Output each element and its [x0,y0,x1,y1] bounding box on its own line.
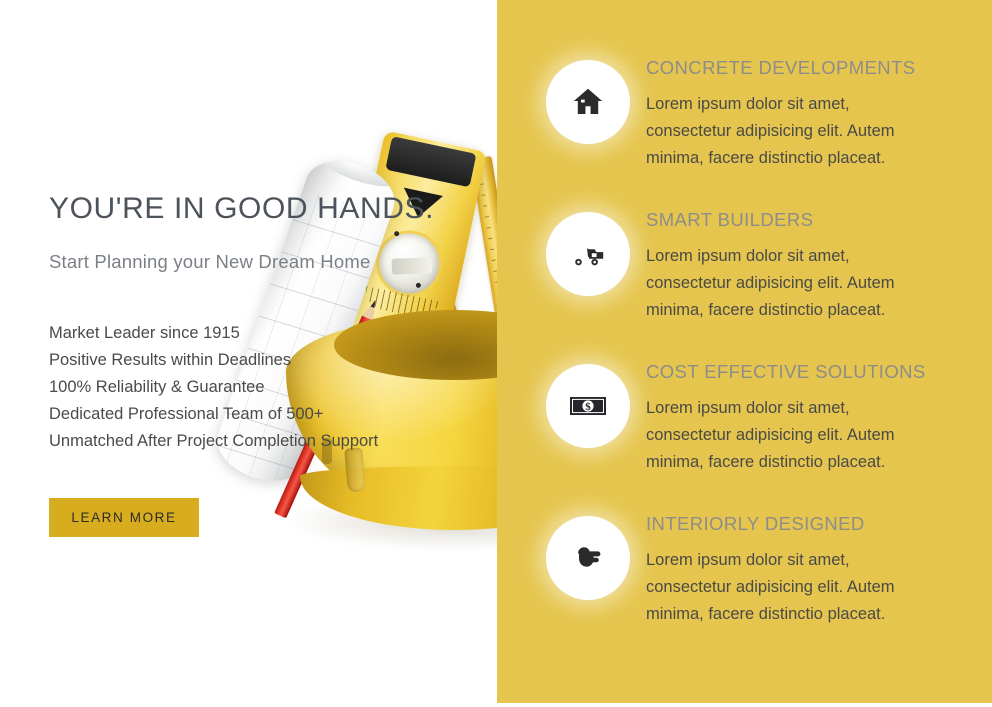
list-item: Market Leader since 1915 [49,320,378,347]
feature-text-block: CONCRETE DEVELOPMENTS Lorem ipsum dolor … [646,56,936,172]
learn-more-button[interactable]: LEARN MORE [49,498,199,537]
feature-item-cost-effective-solutions[interactable]: $ COST EFFECTIVE SOLUTIONS Lorem ipsum d… [497,348,992,500]
feature-title: COST EFFECTIVE SOLUTIONS [646,360,936,383]
list-item: 100% Reliability & Guarantee [49,374,378,401]
feature-title: INTERIORLY DESIGNED [646,512,936,535]
feature-text-block: INTERIORLY DESIGNED Lorem ipsum dolor si… [646,512,936,628]
dump-truck-icon [546,212,630,296]
page-title: YOU'RE IN GOOD HANDS. [49,192,434,226]
feature-title: SMART BUILDERS [646,208,936,231]
hero-section: CONCRETE DEVELOPMENTS Lorem ipsum dolor … [0,0,992,707]
list-item: Dedicated Professional Team of 500+ [49,401,378,428]
feature-item-smart-builders[interactable]: SMART BUILDERS Lorem ipsum dolor sit ame… [497,196,992,348]
feature-item-interiorly-designed[interactable]: INTERIORLY DESIGNED Lorem ipsum dolor si… [497,500,992,652]
svg-text:$: $ [585,401,591,413]
benefit-list: Market Leader since 1915 Positive Result… [49,320,378,455]
list-item: Unmatched After Project Completion Suppo… [49,428,378,455]
feature-text-block: COST EFFECTIVE SOLUTIONS Lorem ipsum dol… [646,360,936,476]
feature-description: Lorem ipsum dolor sit amet, consectetur … [646,91,914,172]
home-icon [546,60,630,144]
feature-text-block: SMART BUILDERS Lorem ipsum dolor sit ame… [646,208,936,324]
feature-list: CONCRETE DEVELOPMENTS Lorem ipsum dolor … [497,0,992,703]
pointing-hand-icon [546,516,630,600]
feature-title: CONCRETE DEVELOPMENTS [646,56,936,79]
feature-description: Lorem ipsum dolor sit amet, consectetur … [646,243,914,324]
feature-item-concrete-developments[interactable]: CONCRETE DEVELOPMENTS Lorem ipsum dolor … [497,44,992,196]
page-subtitle: Start Planning your New Dream Home [49,251,370,273]
money-bill-icon: $ [546,364,630,448]
feature-description: Lorem ipsum dolor sit amet, consectetur … [646,395,914,476]
feature-description: Lorem ipsum dolor sit amet, consectetur … [646,547,914,628]
list-item: Positive Results within Deadlines [49,347,378,374]
